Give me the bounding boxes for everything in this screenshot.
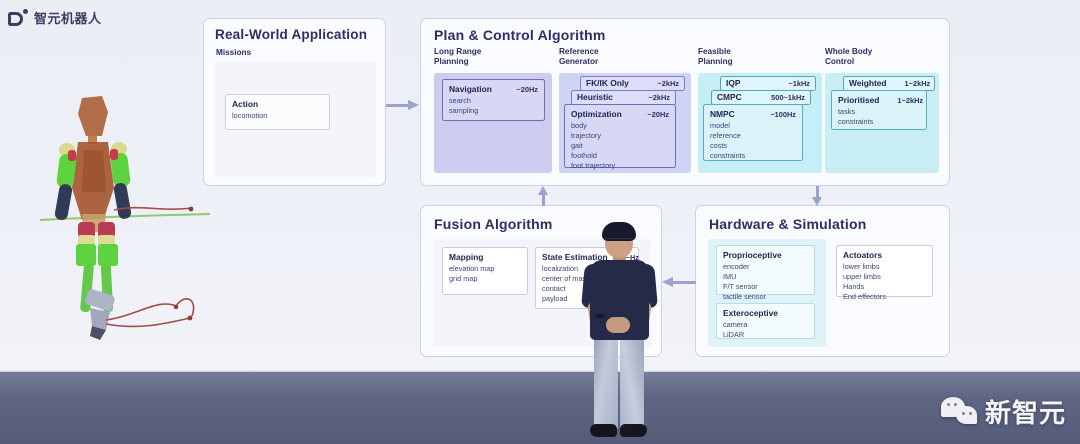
card-optimization[interactable]: Optimization ~20Hz bodytrajectorygaitfoo… (564, 104, 676, 168)
group-long-range-planning: Navigation ~20Hz searchsampling (434, 73, 552, 173)
card-lines-optimization: bodytrajectorygaitfootholdfoot trajector… (571, 121, 669, 171)
card-title-optimization: Optimization (571, 109, 622, 119)
sub-label-reference-generator: ReferenceGenerator (559, 47, 599, 67)
card-head-optimization: Optimization ~20Hz (571, 109, 669, 119)
card-head-prioritised: Prioritised 1~2kHz (838, 95, 920, 105)
channel-watermark: 新智元 (941, 393, 1066, 430)
card-title-action: Action (232, 99, 258, 109)
card-head-navigation: Navigation ~20Hz (449, 84, 538, 94)
panel-title-real-world: Real-World Application (215, 27, 367, 42)
card-title-navigation: Navigation (449, 84, 492, 94)
card-freq-nmpc: ~100Hz (760, 110, 796, 119)
group-missions: Action locomotion (215, 61, 376, 177)
sub-label-missions: Missions (216, 48, 251, 58)
card-exteroceptive[interactable]: Exteroceptive cameraLiDAR (716, 303, 815, 339)
card-freq-fk-ik: ~2kHz (647, 79, 679, 88)
card-title-cmpc: CMPC (717, 92, 742, 102)
presenter-glasses (604, 238, 634, 245)
card-freq-navigation: ~20Hz (506, 85, 538, 94)
arrow-realworld-to-plan (386, 100, 420, 110)
card-proprioceptive[interactable]: Proprioceptive encoderIMUF/T sensortacti… (716, 245, 815, 295)
card-cmpc[interactable]: CMPC 500~1kHz (711, 90, 811, 105)
group-reference-generator: FK/IK Only ~2kHz Heuristic ~2kHz Optimiz… (559, 73, 691, 173)
card-title-mapping: Mapping (449, 252, 483, 262)
card-freq-heuristic: ~2kHz (638, 93, 670, 102)
card-weighted[interactable]: Weighted 1~2kHz (843, 76, 935, 91)
arrow-hardware-to-fusion (662, 277, 696, 287)
card-action[interactable]: Action locomotion (225, 94, 330, 130)
sub-label-long-range-planning: Long RangePlanning (434, 47, 481, 67)
group-sensors: Proprioceptive encoderIMUF/T sensortacti… (708, 239, 826, 347)
panel-title-hardware: Hardware & Simulation (709, 216, 866, 232)
brand-logo: 智元机器人 (8, 8, 102, 27)
stage-floor (0, 372, 1080, 444)
presenter-hands (606, 317, 630, 333)
card-lines-exteroceptive: cameraLiDAR (723, 320, 808, 340)
card-lines-actoators: lower limbsupper limbsHandsEnd effectors (843, 262, 926, 302)
panel-title-fusion: Fusion Algorithm (434, 216, 553, 232)
presenter-shoe-left (590, 424, 617, 437)
card-lines-navigation: searchsampling (449, 96, 538, 116)
presenter-watch (595, 314, 605, 318)
card-head-exteroceptive: Exteroceptive (723, 308, 808, 318)
card-title-prioritised: Prioritised (838, 95, 879, 105)
robot-logo-icon (8, 9, 28, 27)
card-title-fk-ik: FK/IK Only (586, 78, 629, 88)
card-title-actoators: Actoators (843, 250, 882, 260)
panel-hardware-simulation: Hardware & Simulation Proprioceptive enc… (695, 205, 950, 357)
wechat-icon (941, 397, 977, 427)
card-title-proprioceptive: Proprioceptive (723, 250, 782, 260)
card-lines-action: locomotion (232, 111, 323, 121)
card-iqp[interactable]: IQP ~1kHz (720, 76, 816, 91)
card-head-cmpc: CMPC 500~1kHz (717, 92, 805, 102)
card-head-nmpc: NMPC ~100Hz (710, 109, 796, 119)
card-navigation[interactable]: Navigation ~20Hz searchsampling (442, 79, 545, 121)
card-title-heuristic: Heuristic (577, 92, 613, 102)
card-mapping[interactable]: Mapping elevation mapgrid map (442, 247, 528, 295)
robot-model-visualization (40, 92, 210, 354)
card-head-proprioceptive: Proprioceptive (723, 250, 808, 260)
card-head-mapping: Mapping (449, 252, 521, 262)
card-head-action: Action (232, 99, 323, 109)
card-head-weighted: Weighted 1~2kHz (849, 78, 929, 88)
card-actoators[interactable]: Actoators lower limbsupper limbsHandsEnd… (836, 245, 933, 297)
card-lines-prioritised: tasksconstraints (838, 107, 920, 127)
presentation-slide: Real-World Application Missions Action l… (0, 0, 1080, 372)
card-title-nmpc: NMPC (710, 109, 735, 119)
presenter-person (573, 218, 665, 444)
presenter-leg-left (594, 336, 618, 430)
card-freq-weighted: 1~2kHz (895, 79, 931, 88)
card-title-exteroceptive: Exteroceptive (723, 308, 778, 318)
card-fk-ik-only[interactable]: FK/IK Only ~2kHz (580, 76, 685, 91)
brand-name: 智元机器人 (34, 8, 102, 27)
card-lines-nmpc: modelreferencecostsconstraints (710, 121, 796, 161)
arrow-plan-to-hardware (812, 186, 822, 206)
card-head-iqp: IQP ~1kHz (726, 78, 810, 88)
card-freq-cmpc: 500~1kHz (761, 93, 805, 102)
arrow-fusion-to-plan (538, 186, 548, 206)
card-title-iqp: IQP (726, 78, 740, 88)
sub-label-whole-body-control: Whole BodyControl (825, 47, 872, 67)
card-nmpc[interactable]: NMPC ~100Hz modelreferencecostsconstrain… (703, 104, 803, 161)
presenter-shoe-right (620, 424, 647, 437)
watermark-text: 新智元 (985, 393, 1066, 430)
card-lines-proprioceptive: encoderIMUF/T sensortactile sensor (723, 262, 808, 302)
card-heuristic[interactable]: Heuristic ~2kHz (571, 90, 676, 105)
card-title-weighted: Weighted (849, 78, 887, 88)
sub-label-feasible-planning: FeasiblePlanning (698, 47, 733, 67)
card-prioritised[interactable]: Prioritised 1~2kHz tasksconstraints (831, 90, 927, 130)
card-head-heuristic: Heuristic ~2kHz (577, 92, 670, 102)
stage-scene: Real-World Application Missions Action l… (0, 0, 1080, 444)
panel-real-world-application: Real-World Application Missions Action l… (203, 18, 386, 186)
presenter-leg-right (620, 336, 644, 430)
group-whole-body-control: Weighted 1~2kHz Prioritised 1~2kHz tasks… (825, 73, 939, 173)
card-head-fk-ik: FK/IK Only ~2kHz (586, 78, 679, 88)
card-freq-prioritised: 1~2kHz (887, 96, 923, 105)
panel-plan-control-algorithm: Plan & Control Algorithm Long RangePlann… (420, 18, 950, 186)
card-freq-iqp: ~1kHz (778, 79, 810, 88)
card-freq-optimization: ~20Hz (637, 110, 669, 119)
group-feasible-planning: IQP ~1kHz CMPC 500~1kHz NMPC ~100Hz mod (698, 73, 822, 173)
panel-title-plan-control: Plan & Control Algorithm (434, 27, 606, 43)
card-head-actoators: Actoators (843, 250, 926, 260)
card-lines-mapping: elevation mapgrid map (449, 264, 521, 284)
